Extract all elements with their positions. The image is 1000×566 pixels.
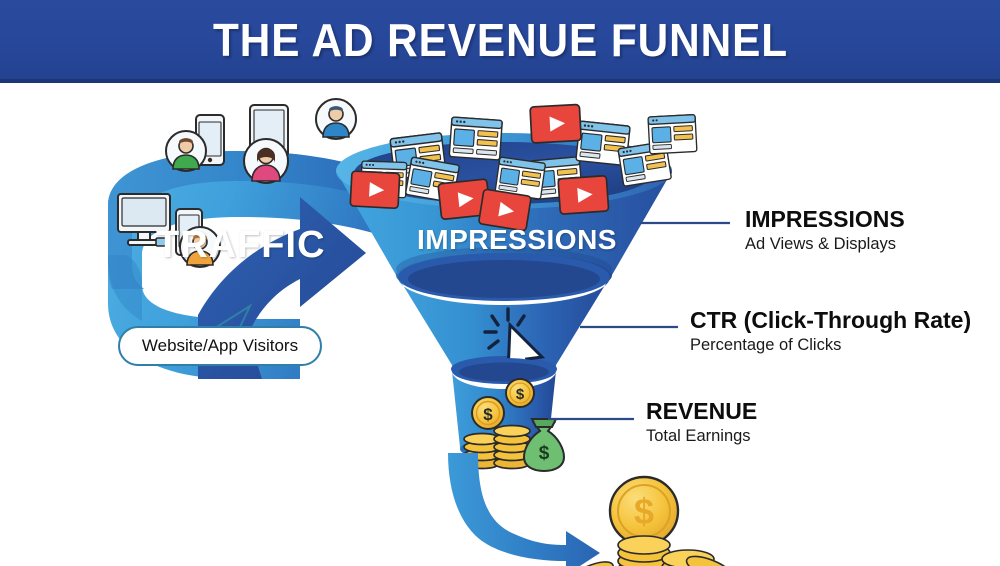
callout-label: Website/App Visitors [142, 336, 298, 356]
page-title: THE AD REVENUE FUNNEL [213, 13, 788, 67]
label-ctr-title: CTR (Click-Through Rate) [690, 308, 971, 334]
svg-text:$: $ [483, 405, 493, 424]
label-impressions-title: IMPRESSIONS [745, 207, 905, 233]
video-play-card [530, 104, 581, 143]
user-avatar-blue [316, 99, 356, 139]
ad-banner-card [648, 115, 697, 154]
gold-coin: $ [472, 397, 504, 429]
label-revenue-title: REVENUE [646, 399, 757, 425]
label-impressions-subtitle: Ad Views & Displays [745, 235, 905, 255]
user-avatar-pink [244, 139, 288, 183]
funnel-word-impressions: IMPRESSIONS [417, 224, 617, 256]
label-ctr: CTR (Click-Through Rate) Percentage of C… [690, 308, 971, 356]
gold-coin: $ [506, 379, 534, 407]
callout-website-app-visitors: Website/App Visitors [118, 326, 322, 366]
svg-text:$: $ [516, 386, 525, 403]
funnel-output-arrow [448, 453, 600, 566]
header-banner: THE AD REVENUE FUNNEL [0, 0, 1000, 79]
user-avatar-green [166, 131, 206, 171]
label-impressions: IMPRESSIONS Ad Views & Displays [745, 207, 905, 255]
funnel-word-traffic: TRAFFIC [156, 224, 326, 267]
label-ctr-subtitle: Percentage of Clicks [690, 336, 971, 356]
infographic-canvas: THE AD REVENUE FUNNEL [0, 0, 1000, 566]
svg-text:$: $ [634, 491, 654, 532]
video-play-card [350, 171, 400, 208]
label-revenue-subtitle: Total Earnings [646, 427, 757, 447]
ad-banner-card [449, 117, 502, 160]
video-play-card [558, 176, 609, 215]
label-revenue: REVENUE Total Earnings [646, 399, 757, 447]
svg-text:$: $ [539, 443, 550, 464]
